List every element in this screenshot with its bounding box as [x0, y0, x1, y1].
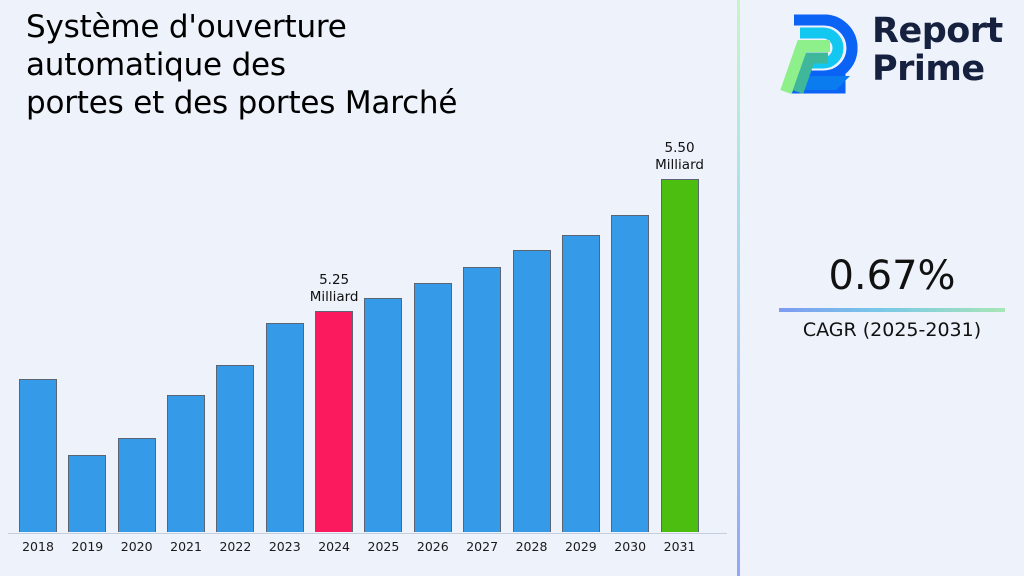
brand-name-line1: Report — [872, 12, 1003, 50]
brand-name: Report Prime — [872, 12, 1003, 88]
bar-2024 — [315, 311, 353, 532]
infographic-page: Système d'ouverture automatique des port… — [0, 0, 1024, 576]
cagr-caption: CAGR (2025-2031) — [760, 318, 1024, 342]
bar-2018 — [19, 379, 57, 532]
bar-2029 — [562, 235, 600, 532]
bar-2021 — [167, 395, 205, 532]
bar-value-label-2031: 5.50 Milliard — [632, 140, 728, 174]
cagr-value: 0.67% — [760, 252, 1024, 300]
bar-2020 — [118, 438, 156, 532]
bar-2023 — [266, 323, 304, 532]
bar-2025 — [364, 298, 402, 532]
report-prime-logo-mark-icon — [776, 14, 862, 96]
bar-2019 — [68, 455, 106, 532]
bar-2022 — [216, 365, 254, 532]
brand-logo: Report Prime — [776, 10, 1006, 102]
panel-divider — [737, 0, 740, 576]
x-tick-2031: 2031 — [650, 539, 710, 554]
cagr-panel: 0.67% CAGR (2025-2031) — [760, 252, 1024, 342]
bar-chart: 5.25 Milliard5.50 Milliard 2018201920202… — [0, 0, 737, 576]
bar-2026 — [414, 283, 452, 532]
bar-2031 — [661, 179, 699, 532]
cagr-divider-rule — [779, 308, 1005, 312]
bar-2028 — [513, 250, 551, 532]
x-axis-line — [8, 533, 727, 534]
bar-value-label-2024: 5.25 Milliard — [286, 272, 382, 306]
brand-name-line2: Prime — [872, 50, 1003, 88]
bar-2027 — [463, 267, 501, 532]
bar-2030 — [611, 215, 649, 532]
